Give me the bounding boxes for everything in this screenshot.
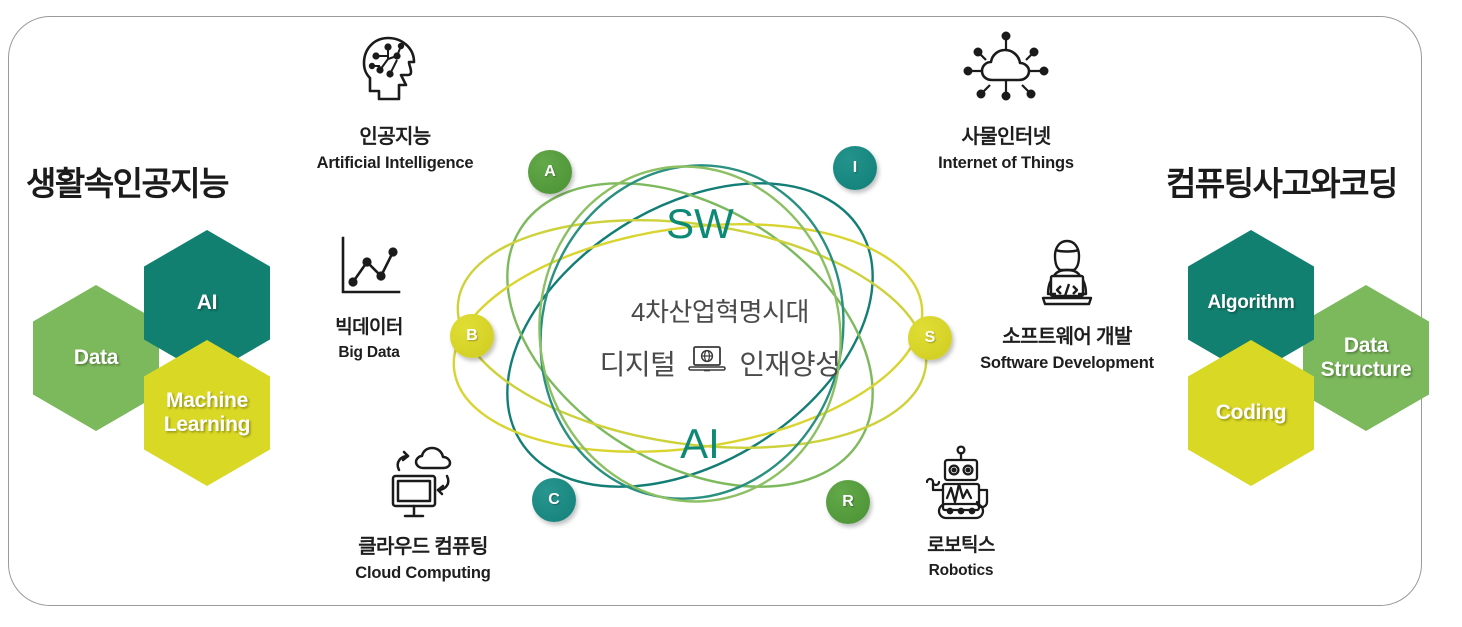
hex-ds-line2: Structure (1321, 358, 1412, 381)
hex-ds-line1: Data (1344, 334, 1388, 357)
hex-data-label: Data (74, 346, 118, 370)
topic-software-development: 소프트웨어 개발 Software Development (958, 226, 1176, 373)
hex-algorithm-label: Algorithm (1207, 292, 1294, 314)
center-slogan: 4차산업혁명시대 디지털 인재양성 (540, 292, 900, 383)
topic-robotics: 로보틱스 Robotics (885, 436, 1037, 580)
center-slogan-line2: 디지털 인재양성 (540, 343, 900, 383)
topic-iot-ko: 사물인터넷 (897, 120, 1115, 149)
badge-i: I (833, 146, 877, 190)
topic-ai-en: Artificial Intelligence (286, 154, 504, 173)
topic-big-data: 빅데이터 Big Data (298, 218, 440, 362)
developer-laptop-icon (958, 226, 1176, 314)
topic-robot-en: Robotics (885, 562, 1037, 580)
hex-coding-label: Coding (1216, 401, 1287, 425)
badge-a: A (528, 150, 572, 194)
hex-ds-label: Data Structure (1321, 334, 1412, 382)
badge-b: B (450, 314, 494, 358)
topic-artificial-intelligence: 인공지능 Artificial Intelligence (286, 26, 504, 173)
badge-r: R (826, 480, 870, 524)
hex-ai-label: AI (197, 291, 217, 315)
topic-bigdata-ko: 빅데이터 (298, 312, 440, 339)
topic-ai-ko: 인공지능 (286, 120, 504, 149)
badge-s: S (908, 316, 952, 360)
topic-cloud-ko: 클라우드 컴퓨팅 (320, 530, 526, 559)
topic-iot-en: Internet of Things (897, 154, 1115, 173)
line-chart-icon (298, 218, 440, 306)
cloud-monitor-sync-icon (320, 436, 526, 524)
center-label-ai: AI (620, 420, 780, 468)
cloud-network-icon (897, 26, 1115, 114)
center-slogan-digital: 디지털 (600, 343, 676, 383)
center-slogan-talent: 인재양성 (739, 343, 840, 383)
hex-ml-line1: Machine (166, 389, 248, 412)
center-label-sw: SW (620, 200, 780, 248)
topic-internet-of-things: 사물인터넷 Internet of Things (897, 26, 1115, 173)
head-circuit-icon (286, 26, 504, 114)
badge-c: C (532, 478, 576, 522)
right-section-title: 컴퓨팅사고와코딩 (1166, 157, 1397, 205)
infographic-canvas: 생활속인공지능 Data AI Machine Learning 컴퓨팅사고와코… (0, 0, 1462, 627)
topic-swdev-en: Software Development (958, 354, 1176, 373)
laptop-globe-icon (687, 344, 727, 383)
left-section-title: 생활속인공지능 (26, 157, 228, 205)
topic-swdev-ko: 소프트웨어 개발 (958, 320, 1176, 349)
topic-cloud-computing: 클라우드 컴퓨팅 Cloud Computing (320, 436, 526, 583)
topic-cloud-en: Cloud Computing (320, 564, 526, 583)
topic-robot-ko: 로보틱스 (885, 530, 1037, 557)
robot-icon (885, 436, 1037, 524)
center-slogan-line1: 4차산업혁명시대 (540, 292, 900, 329)
hex-ml-line2: Learning (164, 413, 250, 436)
topic-bigdata-en: Big Data (298, 344, 440, 362)
hex-ml-label: Machine Learning (164, 389, 250, 437)
